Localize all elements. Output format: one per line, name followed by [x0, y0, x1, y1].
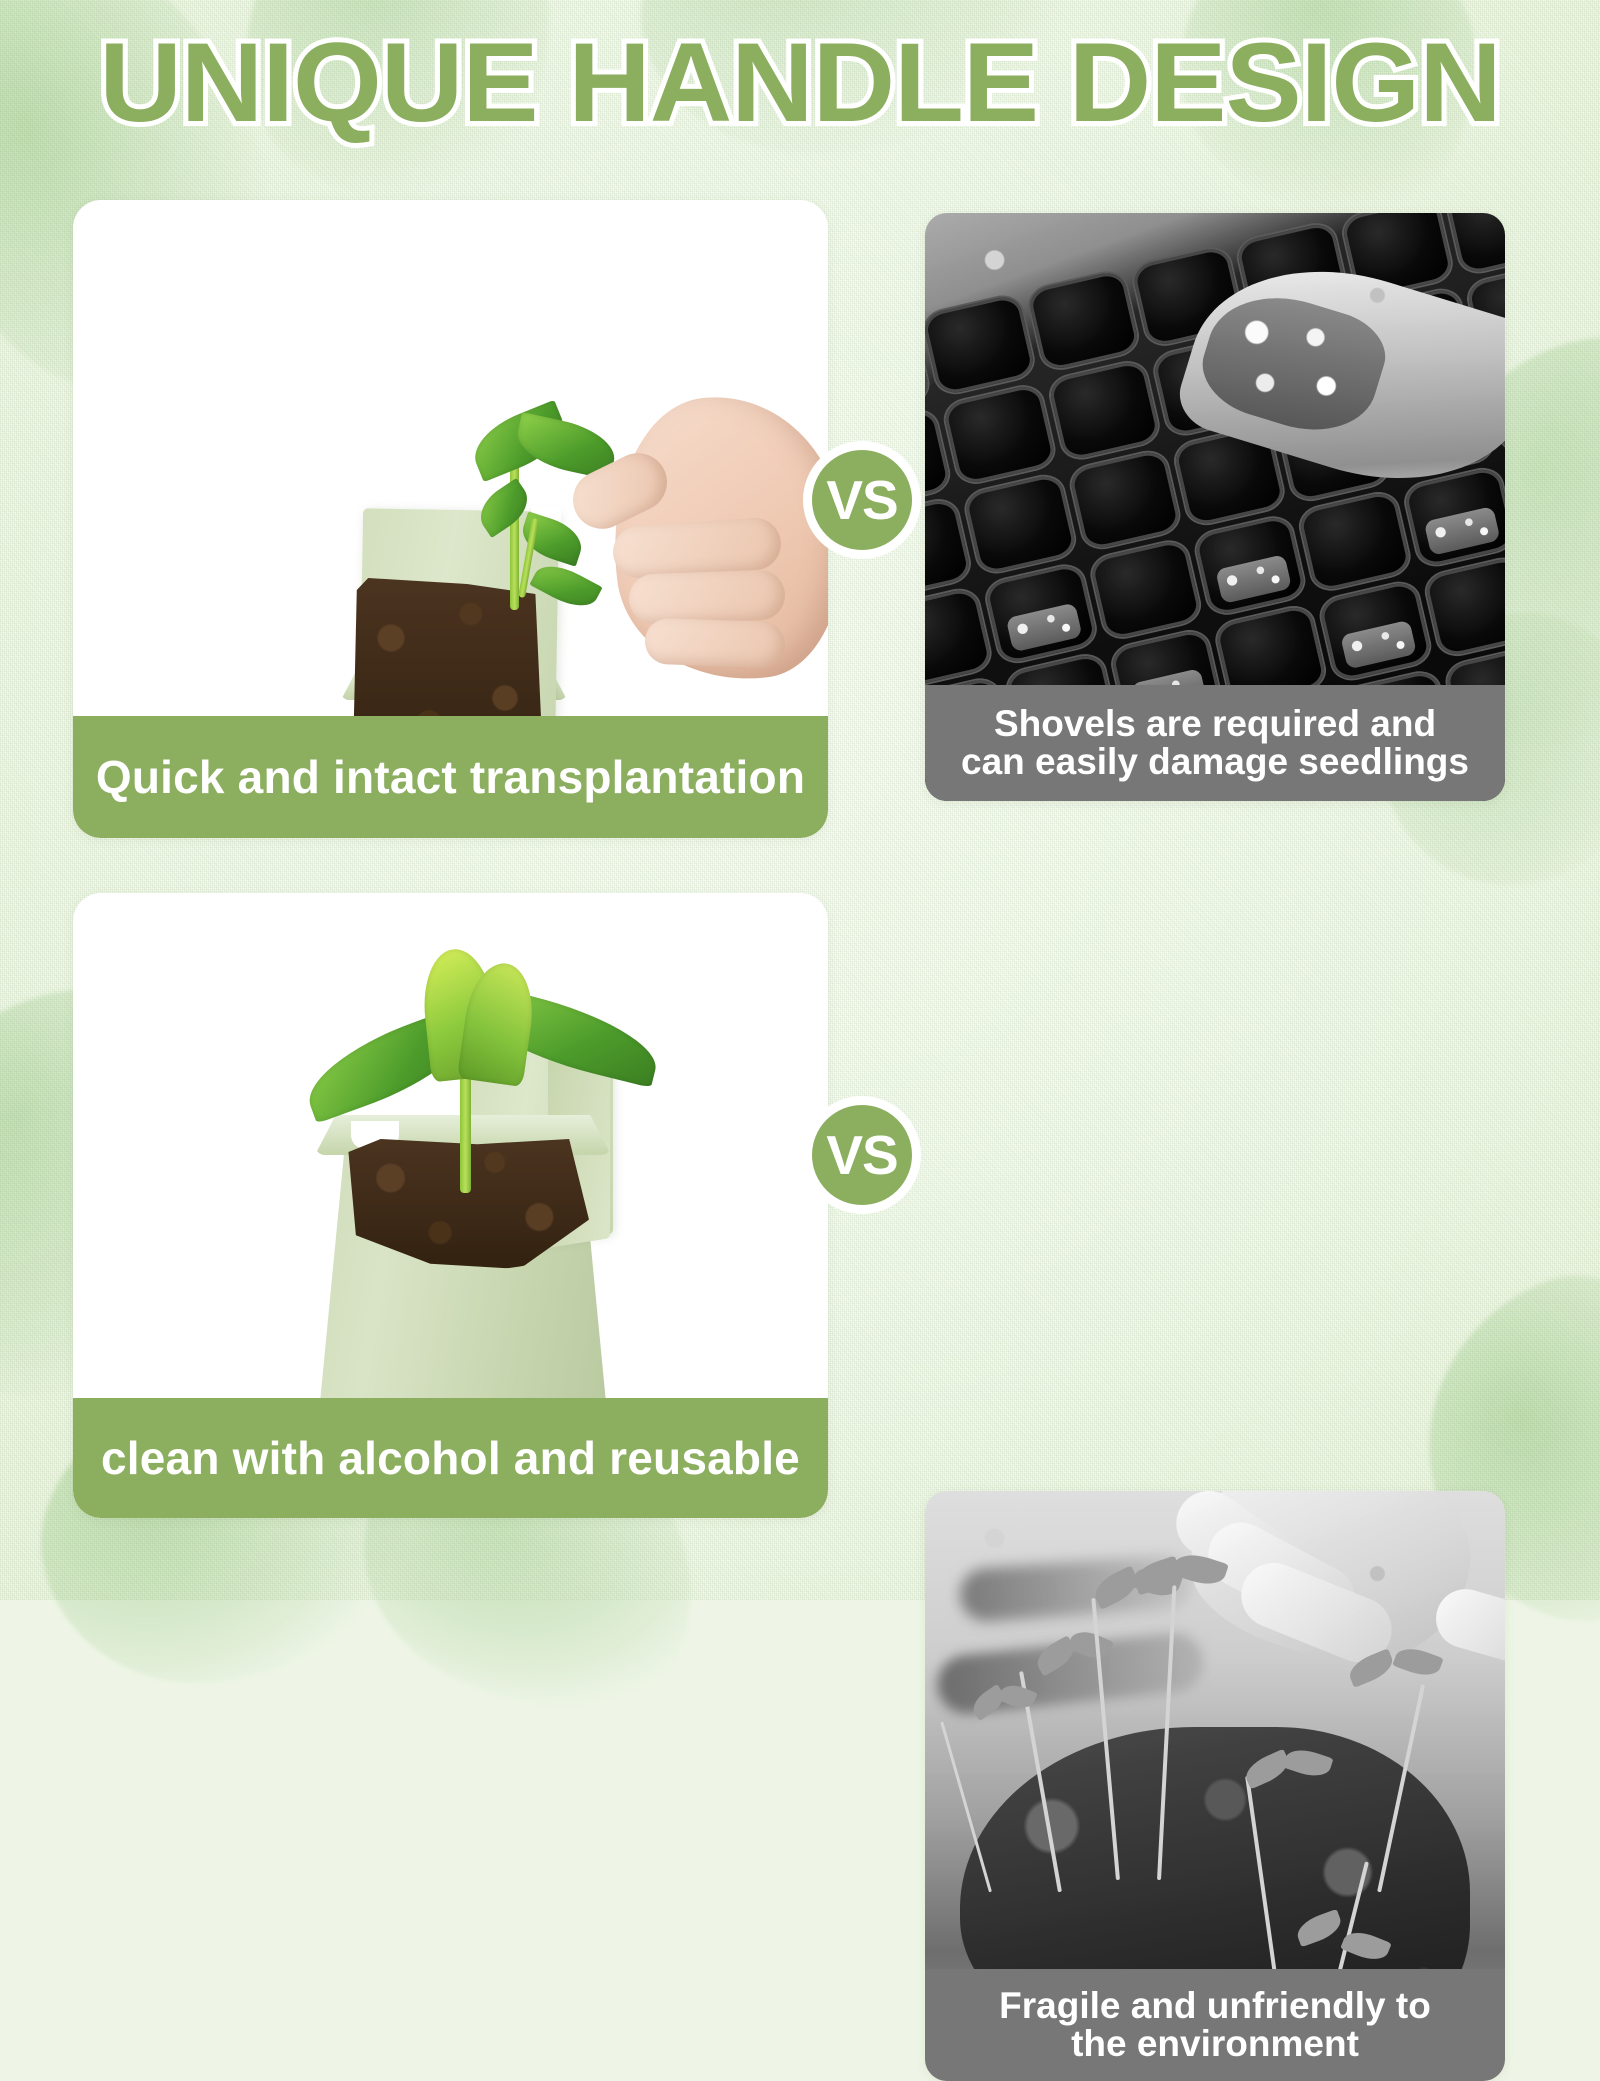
- hand-middle-finger: [628, 569, 786, 624]
- comparison-2-pro-card: clean with alcohol and reusable: [73, 893, 828, 1518]
- vs-label: VS: [826, 1123, 897, 1187]
- comparison-2-pro-caption-bar: clean with alcohol and reusable: [73, 1398, 828, 1518]
- page-title: UNIQUE HANDLE DESIGN: [0, 22, 1600, 144]
- vs-label: VS: [826, 468, 897, 532]
- comparison-2-con-caption-line2: the environment: [1071, 2025, 1359, 2063]
- comparison-1-pro-caption-bar: Quick and intact transplantation: [73, 716, 828, 838]
- comparison-1-con-caption-line1: Shovels are required and: [994, 705, 1436, 743]
- seedling-stem: [510, 450, 519, 610]
- comparison-2-con-caption-bar: Fragile and unfriendly to the environmen…: [925, 1969, 1505, 2081]
- comparison-1-pro-caption: Quick and intact transplantation: [96, 750, 805, 804]
- hand-ring-finger: [644, 618, 786, 669]
- comparison-1-pro-card: Quick and intact transplantation: [73, 200, 828, 838]
- comparison-2-pro-caption: clean with alcohol and reusable: [101, 1431, 800, 1485]
- comparison-1-con-caption-bar: Shovels are required and can easily dama…: [925, 685, 1505, 801]
- comparison-2-con-caption-line1: Fragile and unfriendly to: [999, 1987, 1431, 2025]
- comparison-1-con-caption-line2: can easily damage seedlings: [961, 743, 1469, 781]
- comparison-2-vs-badge: VS: [803, 1096, 921, 1214]
- comparison-1-vs-badge: VS: [803, 441, 921, 559]
- comparison-2-con-card: Fragile and unfriendly to the environmen…: [925, 1491, 1505, 2081]
- comparison-1-con-card: Shovels are required and can easily dama…: [925, 213, 1505, 801]
